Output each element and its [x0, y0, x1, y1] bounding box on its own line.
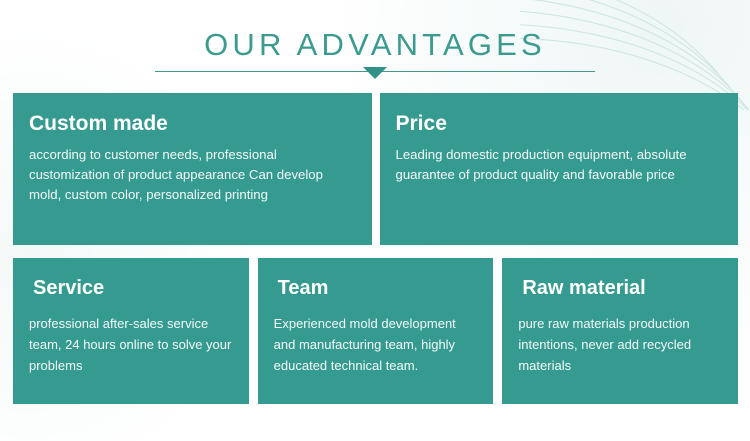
- advantage-card-team: Team Experienced mold development and ma…: [258, 258, 494, 404]
- advantage-card-title: Service: [33, 276, 233, 301]
- caret-down-icon: [363, 67, 387, 79]
- advantage-card-custom-made: Custom made according to customer needs,…: [13, 93, 372, 245]
- advantage-card-price: Price Leading domestic production equipm…: [380, 93, 739, 245]
- advantage-card-body: according to customer needs, professiona…: [29, 145, 356, 205]
- title-divider: [155, 64, 595, 82]
- advantage-card-service: Service professional after-sales service…: [13, 258, 249, 404]
- page-title: OUR ADVANTAGES: [0, 27, 750, 63]
- advantage-card-body: pure raw materials production intentions…: [518, 313, 722, 376]
- advantage-card-body: Experienced mold development and manufac…: [274, 313, 478, 376]
- advantage-card-raw-material: Raw material pure raw materials producti…: [502, 258, 738, 404]
- advantages-bottom-row: Service professional after-sales service…: [13, 258, 738, 404]
- section-header: OUR ADVANTAGES: [0, 0, 750, 90]
- advantages-top-row: Custom made according to customer needs,…: [13, 93, 738, 245]
- advantage-card-title: Custom made: [29, 111, 356, 136]
- advantage-card-title: Raw material: [522, 276, 722, 301]
- advantage-card-title: Team: [278, 276, 478, 301]
- advantage-card-body: professional after-sales service team, 2…: [29, 313, 233, 376]
- advantage-card-title: Price: [396, 111, 723, 136]
- advantages-page: OUR ADVANTAGES Custom made according to …: [0, 0, 750, 441]
- advantage-card-body: Leading domestic production equipment, a…: [396, 145, 723, 185]
